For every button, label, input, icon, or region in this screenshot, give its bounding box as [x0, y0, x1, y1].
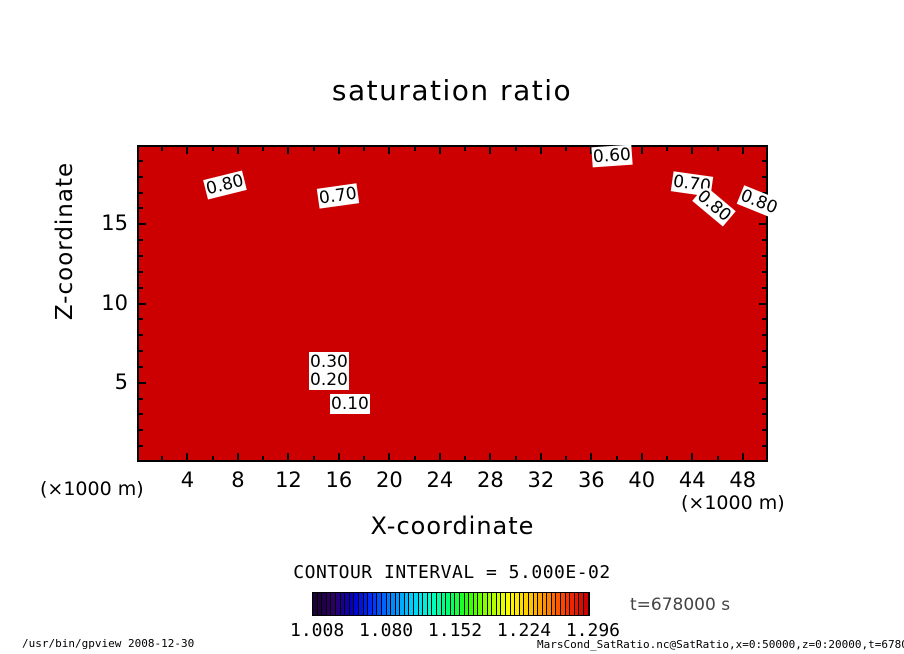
- x-axis-tick: [186, 145, 188, 154]
- x-axis-tick: [590, 453, 592, 462]
- y-axis-tick-label: 5: [90, 370, 128, 394]
- y-axis-minor-tick: [137, 318, 143, 320]
- x-axis-tick: [641, 453, 643, 462]
- y-axis-tick: [759, 223, 768, 225]
- y-axis-minor-tick: [762, 445, 768, 447]
- y-axis-minor-tick: [137, 239, 143, 241]
- y-axis-minor-tick: [137, 176, 143, 178]
- y-axis-minor-tick: [137, 271, 143, 273]
- footer-command-label: /usr/bin/gpview 2008-12-30: [22, 637, 194, 650]
- y-axis-minor-tick: [137, 429, 143, 431]
- y-axis-tick: [137, 382, 146, 384]
- saturation-ratio-heatmap: [139, 147, 766, 460]
- x-axis-tick: [742, 145, 744, 154]
- x-axis-minor-tick: [717, 145, 719, 151]
- y-axis-minor-tick: [762, 429, 768, 431]
- x-axis-tick: [691, 453, 693, 462]
- y-axis-tick: [759, 382, 768, 384]
- y-axis-minor-tick: [762, 255, 768, 257]
- y-axis-minor-tick: [137, 350, 143, 352]
- y-axis-label: Z-coordinate: [52, 141, 78, 341]
- y-axis-minor-tick: [137, 287, 143, 289]
- colorbar-tick-label: 1.152: [428, 620, 482, 641]
- x-axis-minor-tick: [212, 145, 214, 151]
- x-unit-left-label: (×1000 m): [40, 478, 144, 500]
- x-axis-tick: [742, 453, 744, 462]
- y-axis-minor-tick: [762, 160, 768, 162]
- x-axis-tick: [287, 145, 289, 154]
- y-axis-minor-tick: [137, 255, 143, 257]
- contour-interval-label: CONTOUR INTERVAL = 5.000E-02: [0, 562, 904, 583]
- x-axis-tick: [641, 145, 643, 154]
- x-axis-minor-tick: [515, 456, 517, 462]
- y-axis-minor-tick: [762, 398, 768, 400]
- x-axis-minor-tick: [313, 145, 315, 151]
- x-axis-tick: [489, 145, 491, 154]
- x-axis-tick: [338, 145, 340, 154]
- x-axis-minor-tick: [565, 145, 567, 151]
- y-axis-minor-tick: [762, 318, 768, 320]
- y-axis-minor-tick: [762, 413, 768, 415]
- contour-level-label: 0.60: [591, 145, 632, 168]
- y-axis-minor-tick: [762, 334, 768, 336]
- x-axis-tick: [691, 145, 693, 154]
- y-axis-tick: [137, 303, 146, 305]
- x-axis-label: X-coordinate: [137, 512, 768, 540]
- y-axis-minor-tick: [137, 366, 143, 368]
- y-axis-minor-tick: [762, 239, 768, 241]
- colorbar: [312, 592, 590, 616]
- page-title: saturation ratio: [0, 74, 904, 107]
- time-label: t=678000 s: [630, 595, 730, 615]
- contour-level-label: 0.10: [330, 394, 370, 414]
- x-axis-minor-tick: [666, 145, 668, 151]
- x-axis-minor-tick: [717, 456, 719, 462]
- x-axis-tick: [338, 453, 340, 462]
- x-axis-tick: [388, 145, 390, 154]
- y-axis-minor-tick: [762, 176, 768, 178]
- x-axis-minor-tick: [262, 456, 264, 462]
- y-axis-minor-tick: [762, 350, 768, 352]
- y-axis-minor-tick: [137, 160, 143, 162]
- contour-level-label: 0.20: [309, 370, 349, 390]
- y-axis-minor-tick: [762, 271, 768, 273]
- x-axis-tick: [489, 453, 491, 462]
- x-axis-tick-label: 48: [713, 468, 773, 492]
- x-axis-tick: [237, 453, 239, 462]
- y-axis-minor-tick: [137, 207, 143, 209]
- x-axis-tick: [540, 453, 542, 462]
- y-axis-minor-tick: [137, 334, 143, 336]
- x-axis-tick: [186, 453, 188, 462]
- y-axis-tick: [137, 223, 146, 225]
- x-axis-minor-tick: [212, 456, 214, 462]
- colorbar-tick-label: 1.008: [290, 620, 344, 641]
- contour-level-label: 0.30: [309, 352, 349, 372]
- y-axis-tick-label: 10: [90, 291, 128, 315]
- y-axis-minor-tick: [137, 413, 143, 415]
- y-axis-tick-label: 15: [90, 211, 128, 235]
- y-axis-tick: [759, 303, 768, 305]
- x-axis-minor-tick: [464, 145, 466, 151]
- x-axis-minor-tick: [161, 145, 163, 151]
- x-axis-tick: [439, 145, 441, 154]
- y-axis-minor-tick: [762, 366, 768, 368]
- x-axis-minor-tick: [565, 456, 567, 462]
- x-axis-tick: [439, 453, 441, 462]
- x-axis-tick: [237, 145, 239, 154]
- x-axis-minor-tick: [363, 145, 365, 151]
- y-axis-minor-tick: [137, 445, 143, 447]
- x-axis-minor-tick: [161, 456, 163, 462]
- x-axis-tick: [287, 453, 289, 462]
- x-unit-right-label: (×1000 m): [681, 492, 785, 514]
- x-axis-minor-tick: [666, 456, 668, 462]
- y-axis-minor-tick: [762, 287, 768, 289]
- x-axis-minor-tick: [414, 456, 416, 462]
- x-axis-minor-tick: [464, 456, 466, 462]
- x-axis-minor-tick: [313, 456, 315, 462]
- y-axis-minor-tick: [137, 398, 143, 400]
- colorbar-cell: [584, 593, 589, 615]
- x-axis-minor-tick: [363, 456, 365, 462]
- footer-source-label: MarsCond_SatRatio.nc@SatRatio,x=0:50000,…: [537, 638, 904, 651]
- x-axis-tick: [540, 145, 542, 154]
- x-axis-minor-tick: [515, 145, 517, 151]
- x-axis-tick: [388, 453, 390, 462]
- x-axis-minor-tick: [262, 145, 264, 151]
- x-axis-minor-tick: [414, 145, 416, 151]
- colorbar-tick-label: 1.080: [359, 620, 413, 641]
- x-axis-minor-tick: [616, 456, 618, 462]
- y-axis-minor-tick: [137, 192, 143, 194]
